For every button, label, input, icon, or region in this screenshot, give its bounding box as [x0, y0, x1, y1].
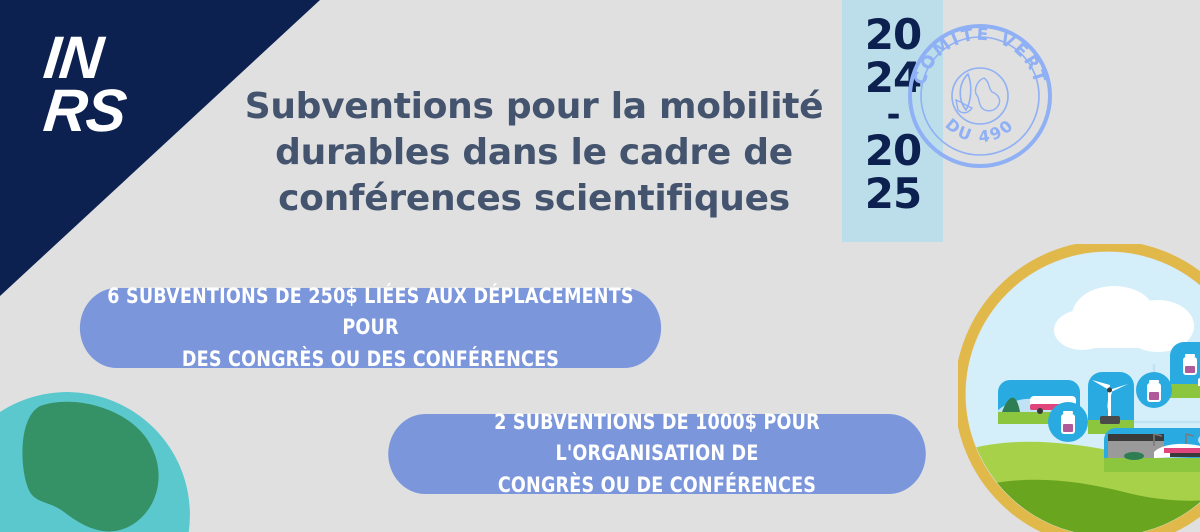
year-end-part-2: 25	[857, 173, 929, 216]
grant-pill-travel: 6 SUBVENTIONS DE 250$ LIÉES AUX DÉPLACEM…	[80, 288, 661, 368]
stamp-top-text: COMITÉ VERT	[910, 23, 1050, 88]
grant-pill-organization: 2 SUBVENTIONS DE 1000$ POUR L'ORGANISATI…	[388, 414, 926, 494]
promo-banner: IN RS Subventions pour la mobilité durab…	[0, 0, 1200, 532]
eco-mobility-illustration	[958, 244, 1200, 532]
battery-icon	[1048, 402, 1088, 442]
banner-title: Subventions pour la mobilité durables da…	[236, 84, 832, 222]
wind-turbine-card	[1088, 372, 1134, 434]
title-line-3: conférences scientifiques	[236, 176, 832, 222]
globe-illustration	[0, 392, 190, 532]
train-card	[1104, 428, 1200, 472]
title-line-1: Subventions pour la mobilité	[236, 84, 832, 130]
grant-pill-organization-line-2: CONGRÈS OU DE CONFÉRENCES	[409, 470, 906, 502]
grant-pill-travel-line-2: DES CONGRÈS OU DES CONFÉRENCES	[100, 344, 640, 376]
battery-icon	[1136, 372, 1172, 408]
logo-line-2: RS	[41, 85, 177, 138]
grant-pill-organization-line-1: 2 SUBVENTIONS DE 1000$ POUR L'ORGANISATI…	[409, 407, 906, 470]
stamp-bottom-text: DU 490	[942, 115, 1019, 147]
comite-vert-stamp: COMITÉ VERT DU 490	[906, 22, 1054, 170]
inrs-logo: IN RS	[44, 32, 174, 138]
title-line-2: durables dans le cadre de	[236, 130, 832, 176]
grant-pill-travel-line-1: 6 SUBVENTIONS DE 250$ LIÉES AUX DÉPLACEM…	[100, 281, 640, 344]
